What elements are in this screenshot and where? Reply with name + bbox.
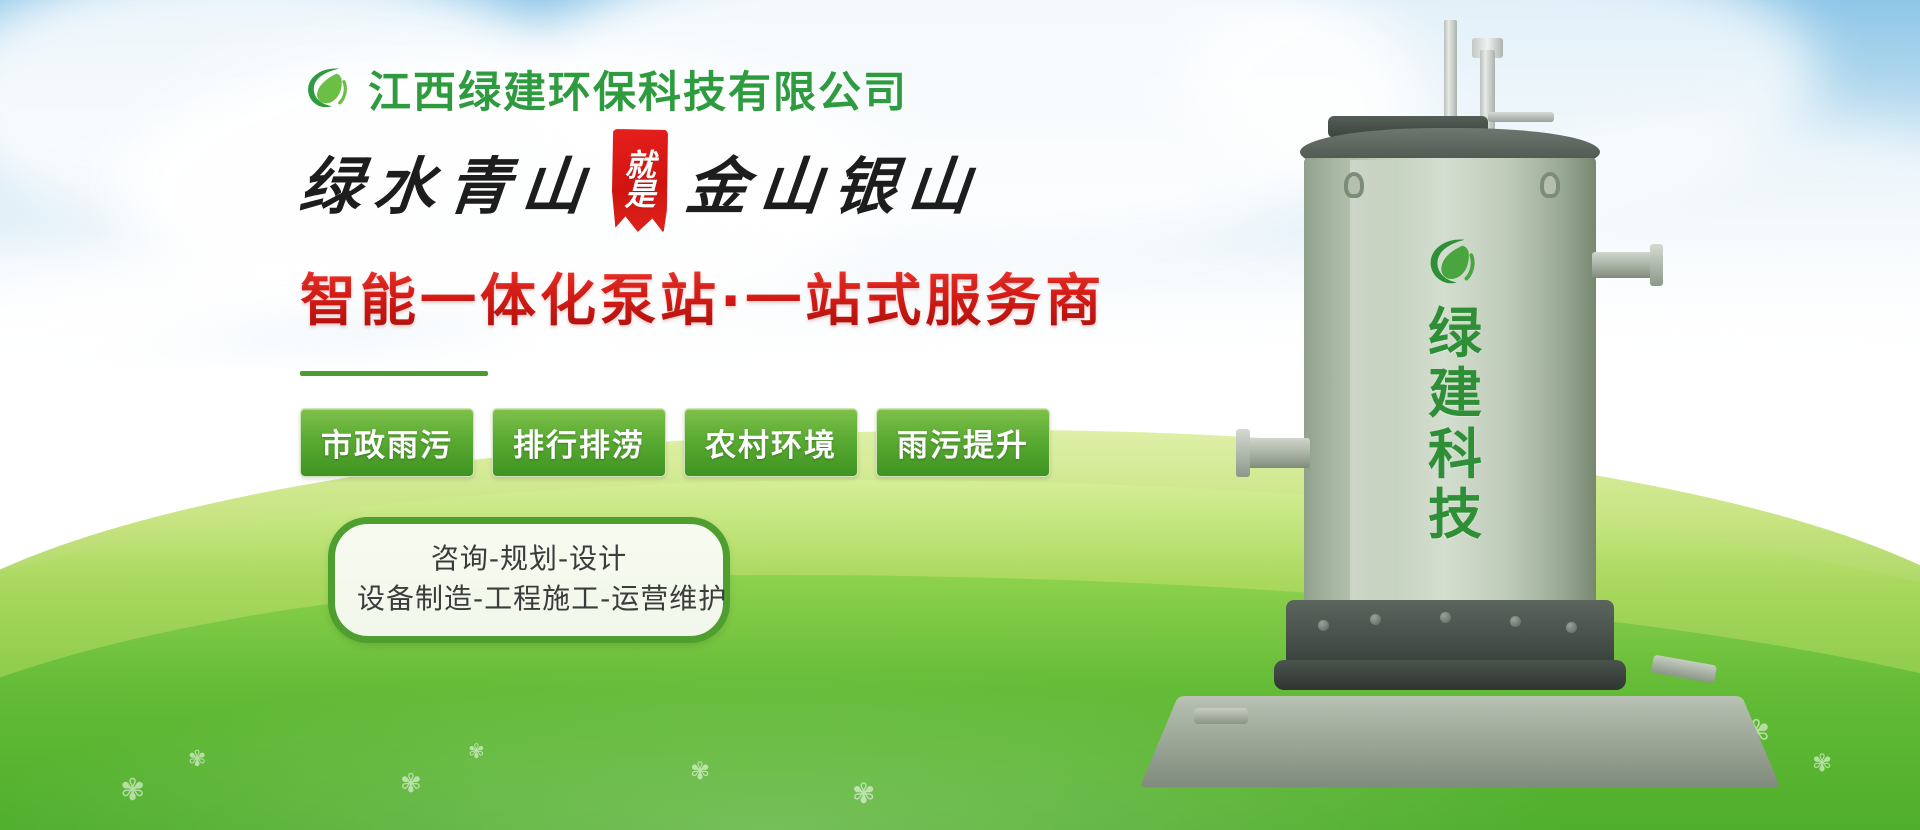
service-line-2: 设备制造-工程施工-运营维护: [357, 579, 701, 619]
main-headline: 智能一体化泵站·一站式服务商: [300, 256, 1100, 337]
leaf-swirl-icon: [300, 63, 352, 115]
tank-brand-char: 技: [1416, 485, 1494, 545]
bolt: [1440, 612, 1451, 623]
green-divider: [300, 371, 488, 376]
seal-char-bottom: 是: [625, 181, 656, 210]
lift-hook: [1540, 172, 1560, 198]
calligraphy-left: 绿水青山: [297, 156, 600, 218]
service-line-1: 咨询-规划-设计: [357, 539, 701, 579]
ground-pipe: [1194, 708, 1248, 724]
tank-brand-char: 科: [1416, 425, 1494, 485]
inlet-nozzle: [1242, 438, 1310, 468]
company-row: 江西绿建环保科技有限公司: [300, 58, 1100, 120]
skirt-lip: [1274, 660, 1626, 690]
tag-chip[interactable]: 农村环境: [684, 408, 858, 477]
pump-station-illustration: 绿 建 科 技: [1200, 20, 1760, 830]
vent-arm: [1488, 112, 1554, 122]
company-name: 江西绿建环保科技有限公司: [368, 58, 908, 120]
bolt: [1510, 616, 1521, 627]
leaf-swirl-icon: [1420, 232, 1482, 294]
banner-content: 江西绿建环保科技有限公司 绿水青山 就 是 金山银山 智能一体化泵站·一站式服务…: [0, 0, 1100, 830]
tag-chip[interactable]: 雨污提升: [876, 408, 1050, 477]
bolt: [1566, 622, 1577, 633]
lift-hook: [1344, 172, 1364, 198]
bolt: [1370, 614, 1381, 625]
tank-brand-char: 建: [1416, 364, 1494, 424]
flower-icon: ✾: [1812, 752, 1832, 776]
tank-brand-char: 绿: [1416, 304, 1494, 364]
tank-sheen: [1350, 160, 1396, 606]
tag-list: 市政雨污 排行排涝 农村环境 雨污提升: [300, 408, 1100, 477]
service-scope-box: 咨询-规划-设计 设备制造-工程施工-运营维护: [328, 517, 730, 643]
red-seal-stamp: 就 是: [612, 129, 668, 233]
nozzle-flange: [1236, 429, 1250, 477]
outlet-nozzle: [1592, 252, 1658, 278]
hero-banner: ✾ ✾ ✾ ✾ ✾ ✾ ✾ ✾ 绿 建 科 技: [0, 0, 1920, 830]
calligraphy-right: 金山银山: [683, 156, 986, 218]
tag-chip[interactable]: 市政雨污: [300, 408, 474, 477]
nozzle-flange: [1650, 244, 1663, 286]
calligraphy-slogan: 绿水青山 就 是 金山银山: [300, 148, 1100, 226]
tag-chip[interactable]: 排行排涝: [492, 408, 666, 477]
side-pipe: [1651, 655, 1717, 684]
tank-brand-text: 绿 建 科 技: [1416, 304, 1494, 546]
bolt: [1318, 620, 1329, 631]
